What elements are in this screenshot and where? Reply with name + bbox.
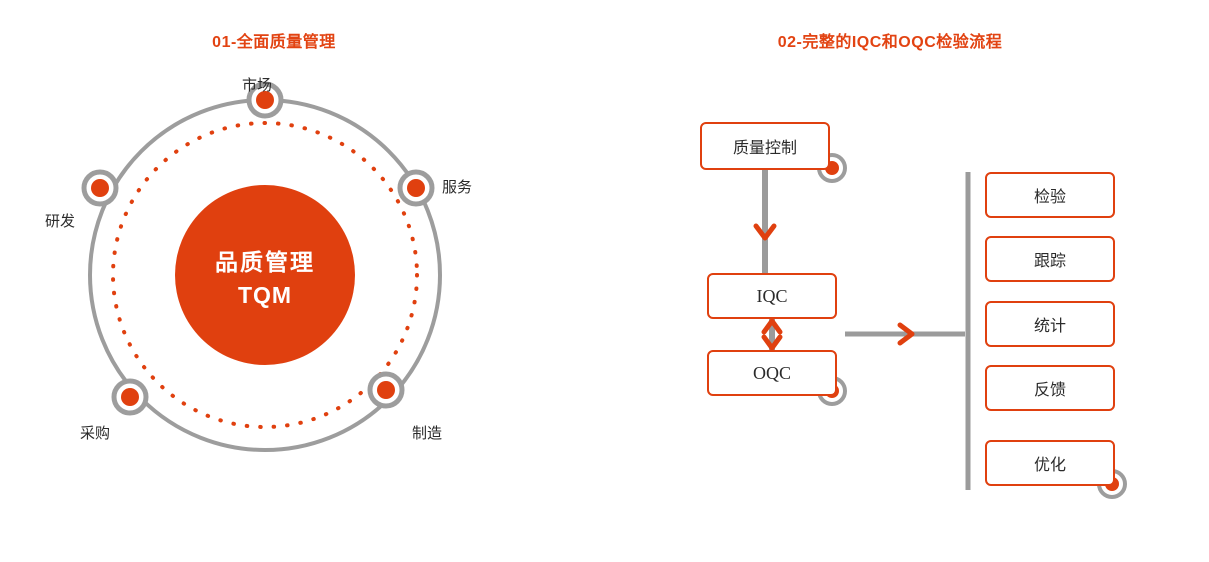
flow-box-feedback[interactable]: 反馈 [985,365,1115,411]
wheel-label-manufacturing: 制造 [412,426,442,441]
panel-title-left: 01-全面质量管理 [0,28,548,52]
tqm-wheel-diagram: 品质管理 TQM 市场 服务 制造 采购 研发 [30,60,550,480]
wheel-label-purchasing: 采购 [80,426,110,441]
iqc-oqc-flow-diagram: 质量控制 IQC OQC 检验 跟踪 统计 反馈 优化 [600,60,1200,530]
wheel-node-purchasing[interactable] [114,381,146,413]
wheel-node-manufacturing[interactable] [370,374,402,406]
flow-box-tracking[interactable]: 跟踪 [985,236,1115,282]
center-disc [175,185,355,365]
flow-box-quality-control[interactable]: 质量控制 [700,122,830,170]
flow-box-inspection[interactable]: 检验 [985,172,1115,218]
wheel-label-rd: 研发 [45,214,75,229]
wheel-node-service[interactable] [400,172,432,204]
flow-box-iqc[interactable]: IQC [707,273,837,319]
flow-box-oqc[interactable]: OQC [707,350,837,396]
flow-box-statistics[interactable]: 统计 [985,301,1115,347]
tqm-wheel-graphic [30,60,550,480]
wheel-label-marketing: 市场 [242,78,272,93]
wheel-node-rd[interactable] [84,172,116,204]
panel-title-right: 02-完整的IQC和OQC检验流程 [600,28,1180,52]
flow-box-optimization[interactable]: 优化 [985,440,1115,486]
wheel-label-service: 服务 [442,180,472,195]
